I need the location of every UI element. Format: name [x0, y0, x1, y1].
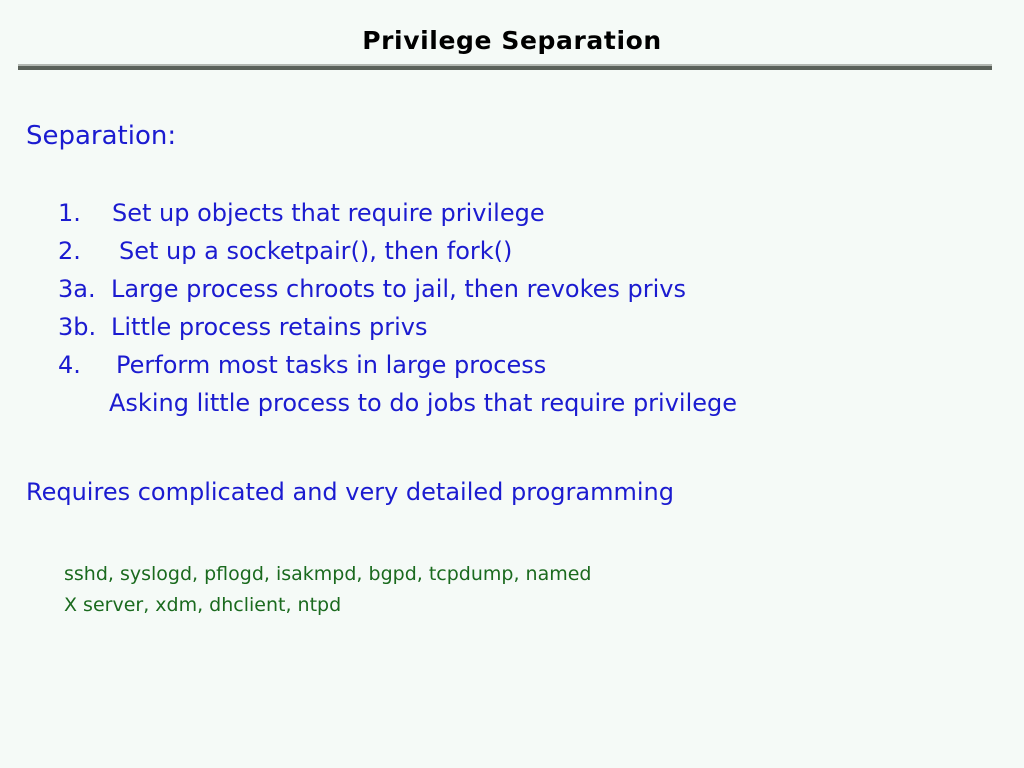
list-item: 4. Perform most tasks in large process: [0, 350, 1024, 388]
title-divider-rule: [18, 64, 992, 70]
list-item: 3b. Little process retains privs: [0, 312, 1024, 350]
daemon-line: sshd, syslogd, pflogd, isakmpd, bgpd, tc…: [64, 559, 591, 590]
list-item: 3a. Large process chroots to jail, then …: [0, 274, 1024, 312]
step-number: 3b.: [58, 312, 110, 342]
step-label: Set up a socketpair(), then fork(): [119, 236, 512, 266]
list-item: 1. Set up objects that require privilege: [0, 198, 1024, 236]
step-label: Large process chroots to jail, then revo…: [111, 274, 686, 304]
step-label: Set up objects that require privilege: [112, 198, 545, 228]
list-item-continuation: Asking little process to do jobs that re…: [0, 388, 1024, 426]
step-label: Little process retains privs: [111, 312, 428, 342]
section-heading-separation: Separation:: [26, 120, 176, 152]
presentation-slide: Privilege Separation Separation: 1. Set …: [0, 0, 1024, 768]
step-label: Asking little process to do jobs that re…: [109, 388, 737, 418]
daemon-examples-list: sshd, syslogd, pflogd, isakmpd, bgpd, tc…: [64, 559, 591, 621]
requires-note: Requires complicated and very detailed p…: [26, 477, 674, 507]
step-number: 2.: [58, 236, 110, 266]
slide-title: Privilege Separation: [0, 26, 1024, 56]
steps-list: 1. Set up objects that require privilege…: [0, 198, 1024, 426]
daemon-line: X server, xdm, dhclient, ntpd: [64, 590, 591, 621]
step-label: Perform most tasks in large process: [116, 350, 546, 380]
step-number: 1.: [58, 198, 110, 228]
divider-shadow: [18, 66, 992, 70]
list-item: 2. Set up a socketpair(), then fork(): [0, 236, 1024, 274]
step-number: 3a.: [58, 274, 110, 304]
step-number: 4.: [58, 350, 110, 380]
